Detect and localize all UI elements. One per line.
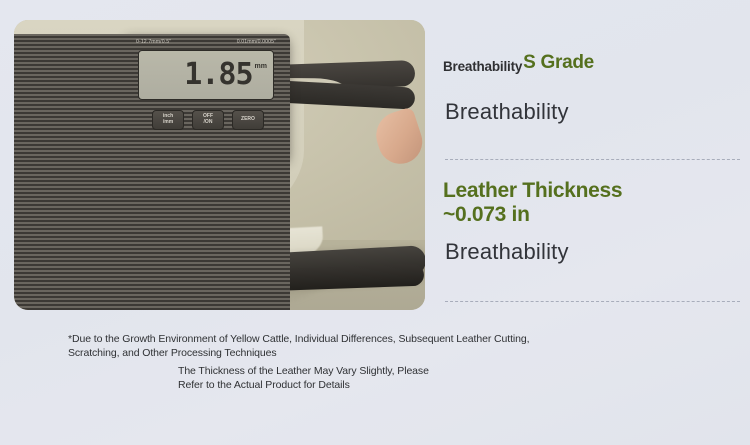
power-button-line2: /ON — [204, 120, 213, 126]
disclaimer-line-2: Scratching, and Other Processing Techniq… — [68, 347, 708, 361]
disclaimer-block: *Due to the Growth Environment of Yellow… — [68, 333, 708, 392]
breathability-grade-label: Breathability — [443, 59, 522, 74]
inch-mm-button[interactable]: inch /mm — [152, 110, 184, 130]
breathability-subtitle-top: Breathability — [445, 99, 569, 125]
disclaimer-line-3: The Thickness of the Leather May Vary Sl… — [178, 365, 708, 379]
gauge-spec-label: 0-12.7mm/0.5" 0.01mm/0.0005" — [136, 39, 276, 45]
gauge-button-row: inch /mm OFF /ON ZERO — [152, 110, 264, 130]
divider-bottom — [445, 301, 740, 302]
product-detail-banner: 0-12.7mm/0.5" 0.01mm/0.0005" 1.85 mm inc… — [0, 0, 750, 445]
leather-thickness-title: Leather Thickness ~0.073 in — [443, 179, 622, 226]
zero-button-line1: ZERO — [241, 117, 255, 123]
gauge-lcd-display: 1.85 mm — [138, 50, 274, 100]
gauge-resolution-text: 0.01mm/0.0005" — [237, 39, 276, 45]
leather-measurement-photo: 0-12.7mm/0.5" 0.01mm/0.0005" 1.85 mm inc… — [14, 20, 425, 310]
divider-top — [445, 159, 740, 160]
breathability-grade-row: Breathability S Grade — [443, 55, 594, 77]
digital-thickness-gauge: 0-12.7mm/0.5" 0.01mm/0.0005" 1.85 mm inc… — [122, 34, 290, 162]
inch-mm-button-line2: /mm — [163, 120, 173, 126]
gauge-reading-value: 1.85 — [184, 60, 252, 90]
gauge-reading-unit: mm — [255, 63, 267, 70]
disclaimer-line-4: Refer to the Actual Product for Details — [178, 379, 708, 393]
disclaimer-line-1: *Due to the Growth Environment of Yellow… — [68, 333, 708, 347]
power-button[interactable]: OFF /ON — [192, 110, 224, 130]
breathability-grade-value: S Grade — [523, 52, 594, 74]
breathability-subtitle-bottom: Breathability — [445, 239, 569, 265]
zero-button[interactable]: ZERO — [232, 110, 264, 130]
gauge-range-text: 0-12.7mm/0.5" — [136, 39, 171, 45]
